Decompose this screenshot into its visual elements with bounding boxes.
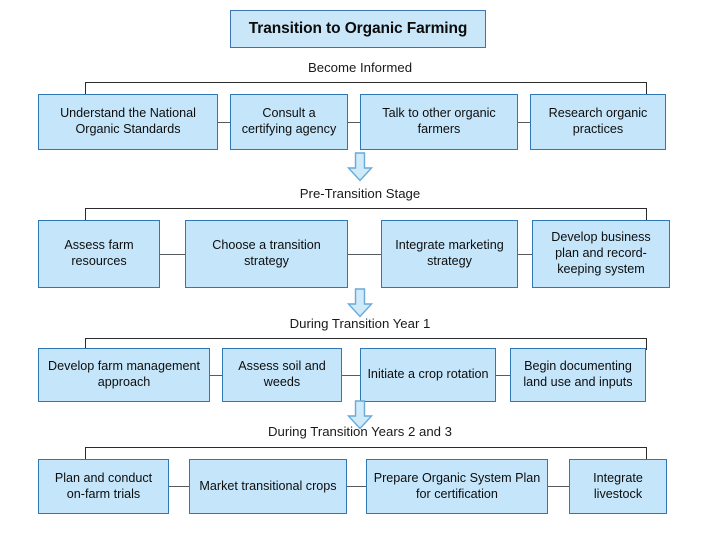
flowchart-canvas: Transition to Organic Farming Become Inf… <box>0 0 720 540</box>
bracket-stub-left <box>85 447 86 459</box>
bracket-stage-1 <box>85 82 647 94</box>
connector-line <box>347 486 366 487</box>
node-label: Research organic practices <box>536 106 660 137</box>
stage-row-4: Plan and conduct on-farm trials Market t… <box>38 459 667 514</box>
node-label: Talk to other organic farmers <box>366 106 512 137</box>
connector-line <box>518 122 530 123</box>
connector-line <box>342 375 360 376</box>
down-arrow-icon-1 <box>347 152 373 182</box>
node-label: Initiate a crop rotation <box>367 367 488 383</box>
bracket-stub-left <box>85 82 86 94</box>
node-label: Begin documenting land use and inputs <box>516 359 640 390</box>
down-arrow-icon-2 <box>347 288 373 318</box>
bracket-spine <box>85 82 647 83</box>
connector-line <box>160 254 185 255</box>
connector-line <box>169 486 189 487</box>
node-talk-to-other-organic-farmers[interactable]: Talk to other organic farmers <box>360 94 518 150</box>
bracket-stub-right <box>646 208 647 220</box>
connector-line <box>218 122 230 123</box>
node-label: Consult a certifying agency <box>236 106 342 137</box>
connector-line <box>348 122 360 123</box>
diagram-title-box: Transition to Organic Farming <box>230 10 486 48</box>
node-consult-certifying-agency[interactable]: Consult a certifying agency <box>230 94 348 150</box>
bracket-spine <box>85 338 647 339</box>
node-begin-documenting-land-use-inputs[interactable]: Begin documenting land use and inputs <box>510 348 646 402</box>
node-plan-conduct-on-farm-trials[interactable]: Plan and conduct on-farm trials <box>38 459 169 514</box>
bracket-spine <box>85 208 647 209</box>
bracket-stub-right <box>646 338 647 350</box>
node-label: Develop business plan and record-keeping… <box>538 230 664 277</box>
connector-line <box>496 375 510 376</box>
stage-label-become-informed: Become Informed <box>0 60 720 75</box>
node-market-transitional-crops[interactable]: Market transitional crops <box>189 459 347 514</box>
node-label: Integrate livestock <box>575 471 661 502</box>
node-label: Plan and conduct on-farm trials <box>44 471 163 502</box>
bracket-stub-right <box>646 447 647 459</box>
node-develop-farm-management-approach[interactable]: Develop farm management approach <box>38 348 210 402</box>
node-assess-farm-resources[interactable]: Assess farm resources <box>38 220 160 288</box>
stage-row-1: Understand the National Organic Standard… <box>38 94 666 150</box>
bracket-stage-4 <box>85 447 647 459</box>
bracket-spine <box>85 447 647 448</box>
node-develop-business-plan-record-keeping[interactable]: Develop business plan and record-keeping… <box>532 220 670 288</box>
connector-line <box>548 486 569 487</box>
node-understand-national-organic-standards[interactable]: Understand the National Organic Standard… <box>38 94 218 150</box>
node-choose-transition-strategy[interactable]: Choose a transition strategy <box>185 220 348 288</box>
node-label: Market transitional crops <box>199 479 336 495</box>
node-label: Develop farm management approach <box>44 359 204 390</box>
node-prepare-organic-system-plan[interactable]: Prepare Organic System Plan for certific… <box>366 459 548 514</box>
page-title: Transition to Organic Farming <box>249 20 467 38</box>
connector-line <box>210 375 222 376</box>
stage-label-pre-transition-stage: Pre-Transition Stage <box>0 186 720 201</box>
bracket-stub-left <box>85 208 86 220</box>
connector-line <box>348 254 381 255</box>
stage-label-during-transition-years-2-and-3: During Transition Years 2 and 3 <box>0 424 720 439</box>
node-label: Integrate marketing strategy <box>387 238 512 269</box>
node-label: Assess farm resources <box>44 238 154 269</box>
node-label: Understand the National Organic Standard… <box>44 106 212 137</box>
stage-row-3: Develop farm management approach Assess … <box>38 348 646 402</box>
stage-row-2: Assess farm resources Choose a transitio… <box>38 220 670 288</box>
node-assess-soil-and-weeds[interactable]: Assess soil and weeds <box>222 348 342 402</box>
node-label: Assess soil and weeds <box>228 359 336 390</box>
stage-label-during-transition-year-1: During Transition Year 1 <box>0 316 720 331</box>
node-label: Choose a transition strategy <box>191 238 342 269</box>
connector-line <box>518 254 532 255</box>
bracket-stage-2 <box>85 208 647 220</box>
node-integrate-livestock[interactable]: Integrate livestock <box>569 459 667 514</box>
node-research-organic-practices[interactable]: Research organic practices <box>530 94 666 150</box>
node-initiate-crop-rotation[interactable]: Initiate a crop rotation <box>360 348 496 402</box>
bracket-stub-right <box>646 82 647 94</box>
node-label: Prepare Organic System Plan for certific… <box>372 471 542 502</box>
node-integrate-marketing-strategy[interactable]: Integrate marketing strategy <box>381 220 518 288</box>
